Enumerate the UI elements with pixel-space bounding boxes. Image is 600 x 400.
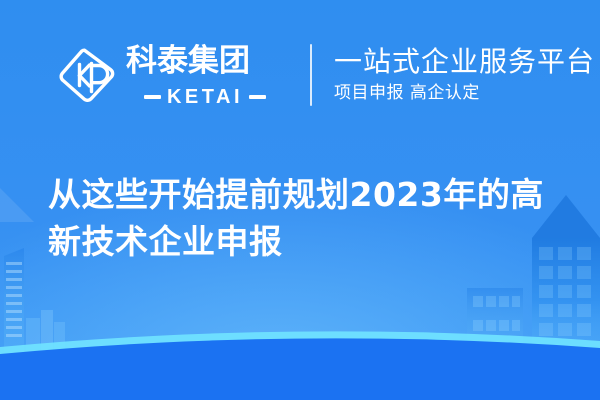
brand-name-cn-text: 科泰集团: [126, 43, 250, 79]
tagline-main: 一站式企业服务平台: [334, 46, 595, 78]
brand-name-cn-glyphs: 科泰集团: [126, 43, 284, 79]
brand-name-cn: 科泰集团: [126, 43, 284, 84]
banner-header: 科泰集团 KETAI 一站式企业服务平台 项目申报 高企认定: [0, 36, 600, 114]
header-divider: [310, 44, 312, 106]
promo-banner: 科泰集团 KETAI 一站式企业服务平台 项目申报 高企认定 从这些开始提前规划…: [0, 0, 600, 400]
page-title: 从这些开始提前规划2023年的高新技术企业申报: [48, 172, 554, 266]
brand-logo[interactable]: 科泰集团 KETAI: [58, 43, 284, 107]
tagline-sub: 项目申报 高企认定: [334, 82, 595, 104]
tagline-block: 一站式企业服务平台 项目申报 高企认定: [334, 46, 595, 104]
brand-name-en: KETAI: [126, 87, 284, 107]
dash-right-icon: [249, 95, 266, 99]
curve-fill: [0, 338, 600, 400]
ketai-diamond-kd-logo-icon: [58, 46, 116, 104]
dash-left-icon: [144, 95, 161, 99]
bottom-curve-band: [0, 305, 600, 400]
brand-name-en-text: KETAI: [167, 87, 243, 107]
